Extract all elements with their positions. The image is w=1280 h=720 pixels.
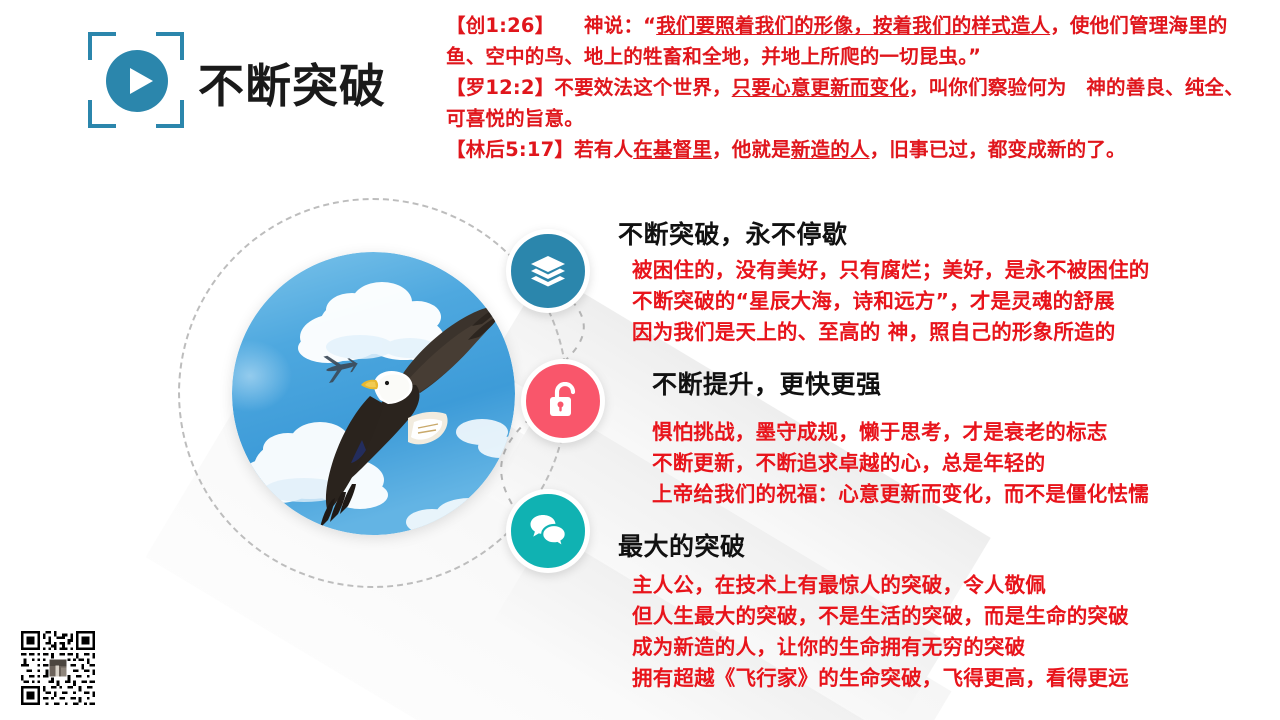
scripture-line-2: 【罗12:2】不要效法这个世界，只要心意更新而变化，叫你们察验何为 神的善良、纯… — [446, 72, 1246, 134]
scripture-block: 【创1:26】 神说：“我们要照着我们的形像，按着我们的样式造人，使他们管理海里… — [446, 10, 1246, 165]
scripture-underlined: 我们要照着我们的形像，按着我们的样式造人 — [656, 14, 1050, 37]
scripture-ref: 【林后5:17】 — [446, 138, 574, 161]
scripture-text: 若有人 — [574, 138, 633, 161]
scripture-ref: 【罗12:2】 — [446, 76, 554, 99]
chat-bubbles-glyph — [529, 514, 567, 548]
section-line: 拥有超越《飞行家》的生命突破，飞得更高，看得更远 — [632, 663, 1129, 694]
logo: 不断突破 — [88, 32, 388, 128]
logo-title: 不断突破 — [198, 50, 386, 116]
scripture-line-3: 【林后5:17】若有人在基督里，他就是新造的人，旧事已过，都变成新的了。 — [446, 134, 1246, 165]
slide-canvas: 不断突破 【创1:26】 神说：“我们要照着我们的形像，按着我们的样式造人，使他… — [0, 0, 1280, 720]
section-line: 被困住的，没有美好，只有腐烂；美好，是永不被困住的 — [632, 255, 1150, 286]
section-line: 因为我们是天上的、至高的 神，照自己的形象所造的 — [632, 317, 1150, 348]
section-heading: 不断提升，更快更强 — [652, 365, 882, 401]
section-line: 不断更新，不断追求卓越的心，总是年轻的 — [652, 448, 1149, 479]
section-line: 成为新造的人，让你的生命拥有无穷的突破 — [632, 632, 1129, 663]
scripture-text: 不要效法这个世界， — [554, 76, 731, 99]
unlock-padlock-glyph — [547, 382, 579, 420]
section-line: 主人公，在技术上有最惊人的突破，令人敬佩 — [632, 570, 1129, 601]
scripture-ref: 【创1:26】 — [446, 14, 545, 37]
section-line: 惧怕挑战，墨守成规，懒于思考，才是衰老的标志 — [652, 417, 1149, 448]
scripture-text: ，旧事已过，都变成新的了。 — [870, 138, 1126, 161]
section-heading: 不断突破，永不停歇 — [618, 215, 848, 251]
layers-stack-icon[interactable] — [506, 229, 590, 313]
scripture-underlined: 新造的人 — [791, 138, 870, 161]
section-heading: 最大的突破 — [618, 527, 746, 563]
scripture-underlined: 在基督里 — [633, 138, 712, 161]
section-line: 上帝给我们的祝福：心意更新而变化，而不是僵化怯懦 — [652, 479, 1149, 510]
section-body: 主人公，在技术上有最惊人的突破，令人敬佩 但人生最大的突破，不是生活的突破，而是… — [632, 570, 1129, 694]
section-body: 惧怕挑战，墨守成规，懒于思考，才是衰老的标志 不断更新，不断追求卓越的心，总是年… — [652, 417, 1149, 510]
eagle-photo-image — [232, 252, 515, 535]
scripture-line-1: 【创1:26】 神说：“我们要照着我们的形像，按着我们的样式造人，使他们管理海里… — [446, 10, 1246, 72]
play-button-icon[interactable] — [106, 50, 168, 112]
scripture-text: 神说：“ — [545, 14, 657, 37]
section-line: 但人生最大的突破，不是生活的突破，而是生命的突破 — [632, 601, 1129, 632]
unlock-padlock-icon[interactable] — [521, 359, 605, 443]
chat-bubbles-icon[interactable] — [506, 489, 590, 573]
section-body: 被困住的，没有美好，只有腐烂；美好，是永不被困住的 不断突破的“星辰大海，诗和远… — [632, 255, 1150, 348]
eagle-photo — [232, 252, 515, 535]
scripture-underlined: 只要心意更新而变化 — [732, 76, 909, 99]
qr-code[interactable] — [14, 628, 102, 708]
layers-stack-glyph — [530, 254, 566, 288]
scripture-text: ，他就是 — [712, 138, 791, 161]
section-line: 不断突破的“星辰大海，诗和远方”，才是灵魂的舒展 — [632, 286, 1150, 317]
